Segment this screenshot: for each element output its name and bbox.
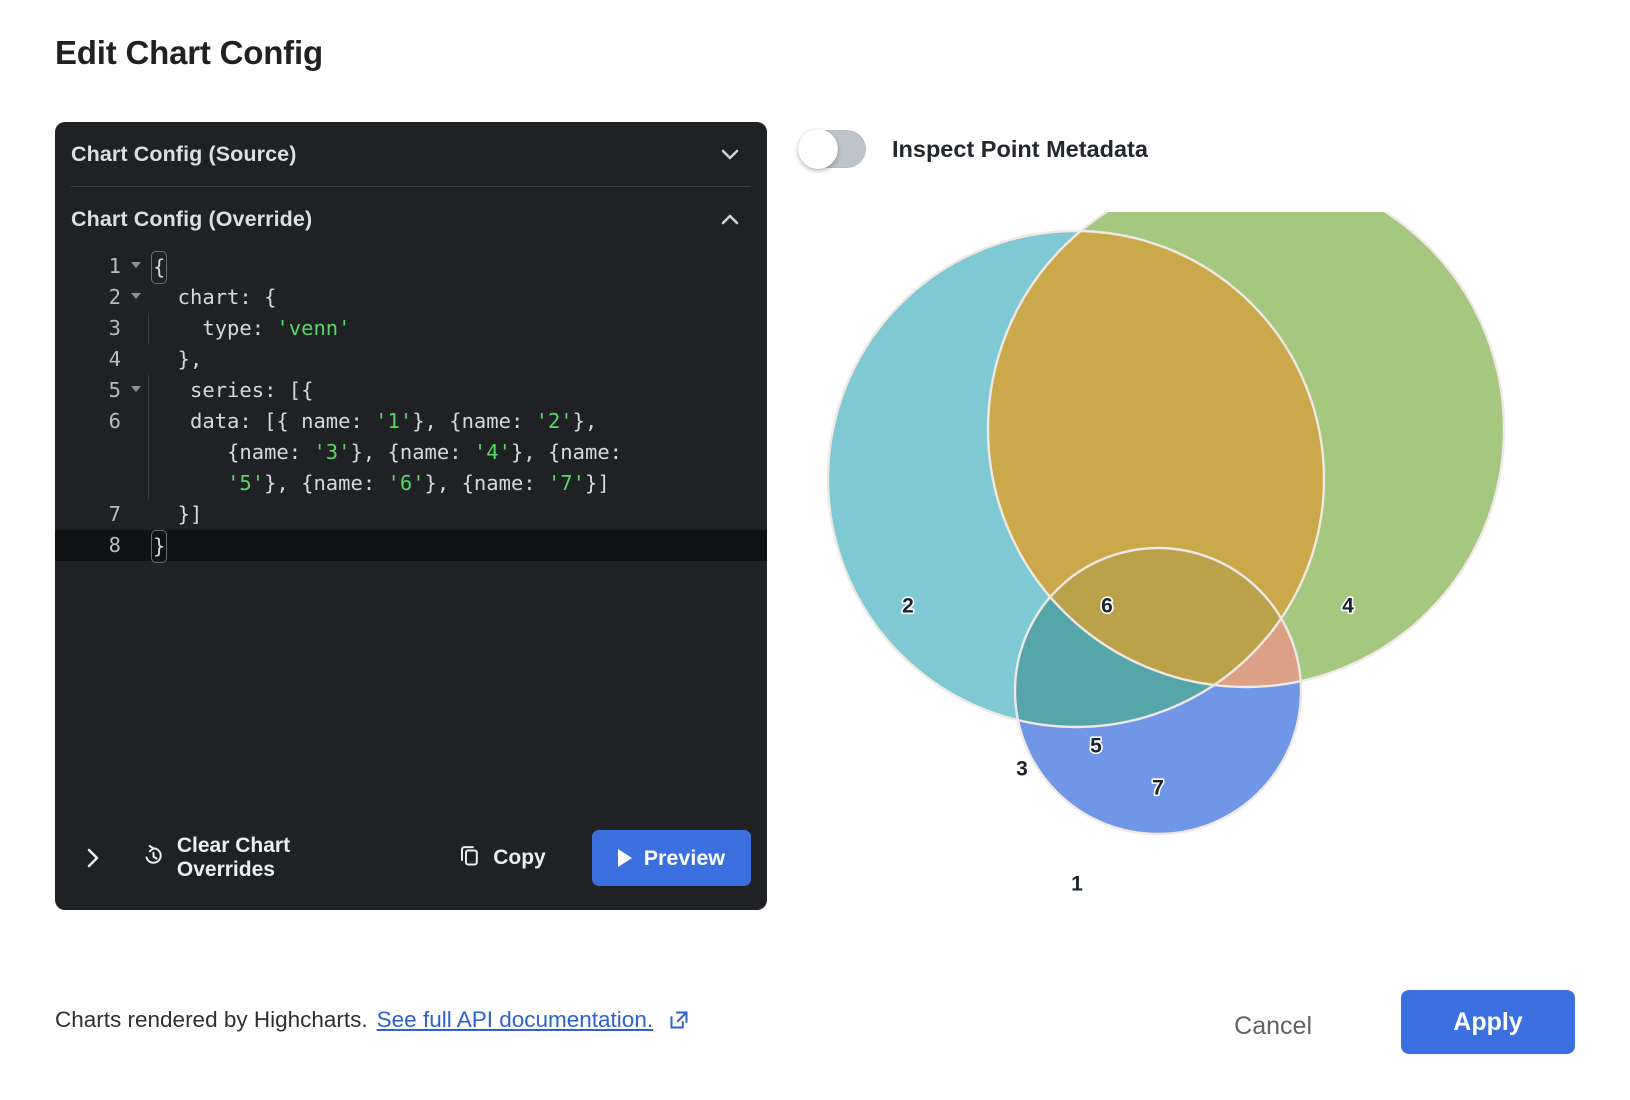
chart-config-override-label: Chart Config (Override) (71, 207, 312, 232)
preview-label: Preview (644, 846, 725, 871)
toggle-knob (798, 129, 838, 169)
line-number: 4 (55, 344, 127, 375)
code-token: }, {name: (264, 471, 387, 495)
line-number: 8 (55, 530, 127, 561)
chevron-right-icon[interactable] (73, 838, 113, 878)
code-text: series: [{ (127, 375, 313, 406)
code-string-token: '5' (227, 471, 264, 495)
copy-button[interactable]: Copy (445, 833, 558, 884)
line-number: 3 (55, 313, 127, 344)
bracket-match-cursor: { (151, 251, 167, 284)
code-token: }] (585, 471, 610, 495)
venn-region-label: 1 (1071, 873, 1083, 896)
line-number: 1 (55, 251, 127, 282)
chevron-up-icon[interactable] (717, 206, 743, 232)
code-string-token: '3' (313, 440, 350, 464)
code-text: '5'}, {name: '6'}, {name: '7'}] (127, 468, 610, 499)
venn-region-label: 6 (1101, 595, 1113, 618)
code-token: }, {name: (350, 440, 473, 464)
code-text: }] (127, 499, 202, 530)
code-line[interactable]: 3 type: 'venn' (55, 313, 767, 344)
play-icon (618, 849, 632, 867)
chart-config-source-label: Chart Config (Source) (71, 142, 296, 167)
line-number: 5 (55, 375, 127, 406)
clear-chart-overrides-button[interactable]: Clear Chart Overrides (129, 824, 405, 892)
code-string-token: 'venn' (276, 316, 350, 340)
external-link-icon[interactable] (667, 1008, 691, 1032)
code-editor[interactable]: 1{2 chart: {3 type: 'venn'4 },5 series: … (55, 251, 767, 807)
code-string-token: '6' (388, 471, 425, 495)
code-string-token: '4' (474, 440, 511, 464)
code-line[interactable]: 1{ (55, 251, 767, 282)
code-text: {name: '3'}, {name: '4'}, {name: (127, 437, 622, 468)
code-token: }, {name: (425, 471, 548, 495)
api-documentation-link[interactable]: See full API documentation. (377, 1007, 653, 1033)
line-number (55, 468, 127, 499)
code-line[interactable]: 8} (55, 530, 767, 561)
code-token: data: [{ name: (153, 409, 375, 433)
chart-preview-panel: Inspect Point Metadata 2416375 (790, 122, 1580, 910)
inspect-point-metadata-toggle[interactable] (798, 130, 866, 168)
code-text: } (127, 530, 167, 561)
edit-chart-config-dialog: Edit Chart Config Chart Config (Source) … (0, 0, 1630, 1100)
inspect-point-metadata-row: Inspect Point Metadata (798, 130, 1148, 168)
history-restore-icon (141, 843, 166, 874)
highcharts-credit-text: Charts rendered by Highcharts. (55, 1007, 368, 1033)
bracket-match-cursor: } (151, 530, 167, 563)
code-token: series: [{ (153, 378, 313, 402)
venn-chart-svg[interactable]: 2416375 (790, 212, 1580, 902)
apply-button[interactable]: Apply (1401, 990, 1575, 1054)
code-token (153, 471, 227, 495)
venn-region-label: 7 (1152, 777, 1164, 800)
code-token: chart: { (153, 285, 276, 309)
code-token: }, (573, 409, 598, 433)
code-line[interactable]: {name: '3'}, {name: '4'}, {name: (55, 437, 767, 468)
chevron-down-icon[interactable] (717, 141, 743, 167)
indent-guide (148, 313, 149, 344)
code-line[interactable]: 4 }, (55, 344, 767, 375)
preview-button[interactable]: Preview (592, 830, 751, 886)
page-title: Edit Chart Config (55, 34, 323, 72)
clear-chart-overrides-label: Clear Chart Overrides (177, 834, 393, 882)
copy-icon (457, 843, 482, 874)
venn-region-label: 3 (1016, 758, 1028, 781)
code-token: }, {name: (511, 440, 622, 464)
code-line[interactable]: 5 series: [{ (55, 375, 767, 406)
line-number: 2 (55, 282, 127, 313)
code-line[interactable]: 2 chart: { (55, 282, 767, 313)
code-line[interactable]: '5'}, {name: '6'}, {name: '7'}] (55, 468, 767, 499)
code-text: { (127, 251, 167, 282)
code-token: }] (153, 502, 202, 526)
cancel-button[interactable]: Cancel (1220, 1002, 1326, 1051)
code-string-token: '2' (536, 409, 573, 433)
copy-label: Copy (493, 846, 546, 870)
venn-region-label: 4 (1342, 595, 1354, 618)
line-number: 6 (55, 406, 127, 437)
code-line[interactable]: 7 }] (55, 499, 767, 530)
line-number: 7 (55, 499, 127, 530)
chart-config-source-section-header[interactable]: Chart Config (Source) (55, 122, 767, 186)
venn-region-label: 2 (902, 595, 914, 618)
code-token: type: (153, 316, 276, 340)
footer-attribution: Charts rendered by Highcharts. See full … (55, 1007, 691, 1033)
code-token: }, (153, 347, 202, 371)
chart-config-editor-card: Chart Config (Source) Chart Config (Over… (55, 122, 767, 910)
indent-guide (148, 375, 149, 406)
code-text: chart: { (127, 282, 276, 313)
venn-region-label: 5 (1090, 735, 1102, 758)
venn-chart[interactable]: 2416375 (790, 212, 1580, 902)
code-token: }, {name: (412, 409, 535, 433)
code-text: }, (127, 344, 202, 375)
code-string-token: '1' (375, 409, 412, 433)
code-token: {name: (153, 440, 313, 464)
code-text: type: 'venn' (127, 313, 350, 344)
line-number (55, 437, 127, 468)
indent-guide (148, 468, 149, 499)
indent-guide (148, 406, 149, 437)
code-line[interactable]: 6 data: [{ name: '1'}, {name: '2'}, (55, 406, 767, 437)
code-text: data: [{ name: '1'}, {name: '2'}, (127, 406, 597, 437)
inspect-point-metadata-label: Inspect Point Metadata (892, 136, 1148, 163)
editor-toolbar: Clear Chart Overrides Copy Preview (55, 806, 767, 910)
chart-config-override-section-header[interactable]: Chart Config (Override) (55, 187, 767, 251)
indent-guide (148, 437, 149, 468)
code-string-token: '7' (548, 471, 585, 495)
